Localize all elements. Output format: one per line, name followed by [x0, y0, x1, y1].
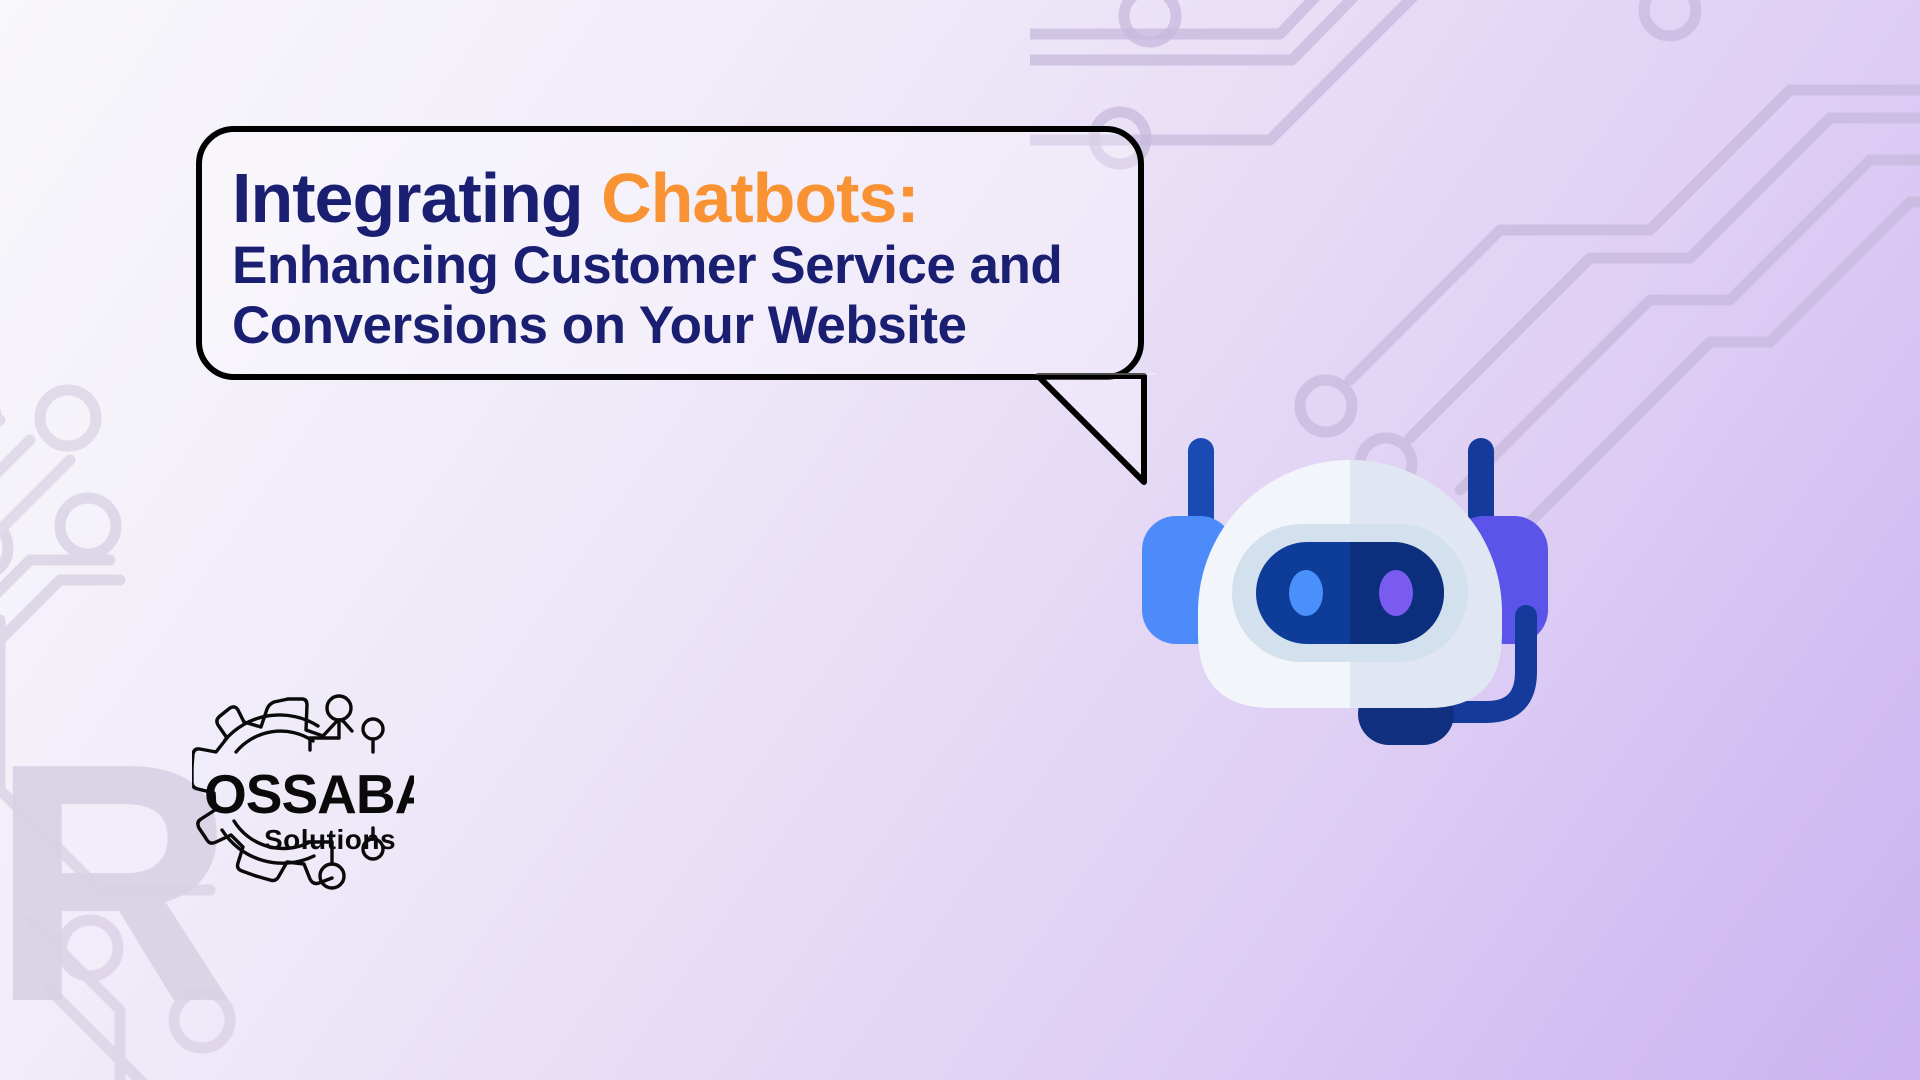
- headline-line-2: Enhancing Customer Service and: [232, 236, 1112, 296]
- headline-block: Integrating Chatbots: Enhancing Customer…: [232, 160, 1112, 356]
- chatbot-mascot: [1140, 420, 1560, 750]
- robot-eye-left: [1289, 570, 1323, 616]
- banner-canvas: R Integrating Chatbots: Enhancing Custom…: [0, 0, 1920, 1080]
- headline-line-1-accent: Chatbots:: [601, 159, 919, 237]
- circuit-pattern-left-mid: [0, 380, 290, 710]
- robot-eye-right: [1379, 570, 1413, 616]
- headline-line-1: Integrating Chatbots:: [232, 160, 1112, 236]
- ossaba-solutions-logo[interactable]: OSSABA Solutions: [192, 686, 414, 898]
- headline-line-1-plain: Integrating: [232, 159, 601, 237]
- headline-line-3: Conversions on Your Website: [232, 296, 1112, 356]
- logo-wordmark: OSSABA: [204, 763, 414, 825]
- logo-tagline: Solutions: [264, 824, 396, 855]
